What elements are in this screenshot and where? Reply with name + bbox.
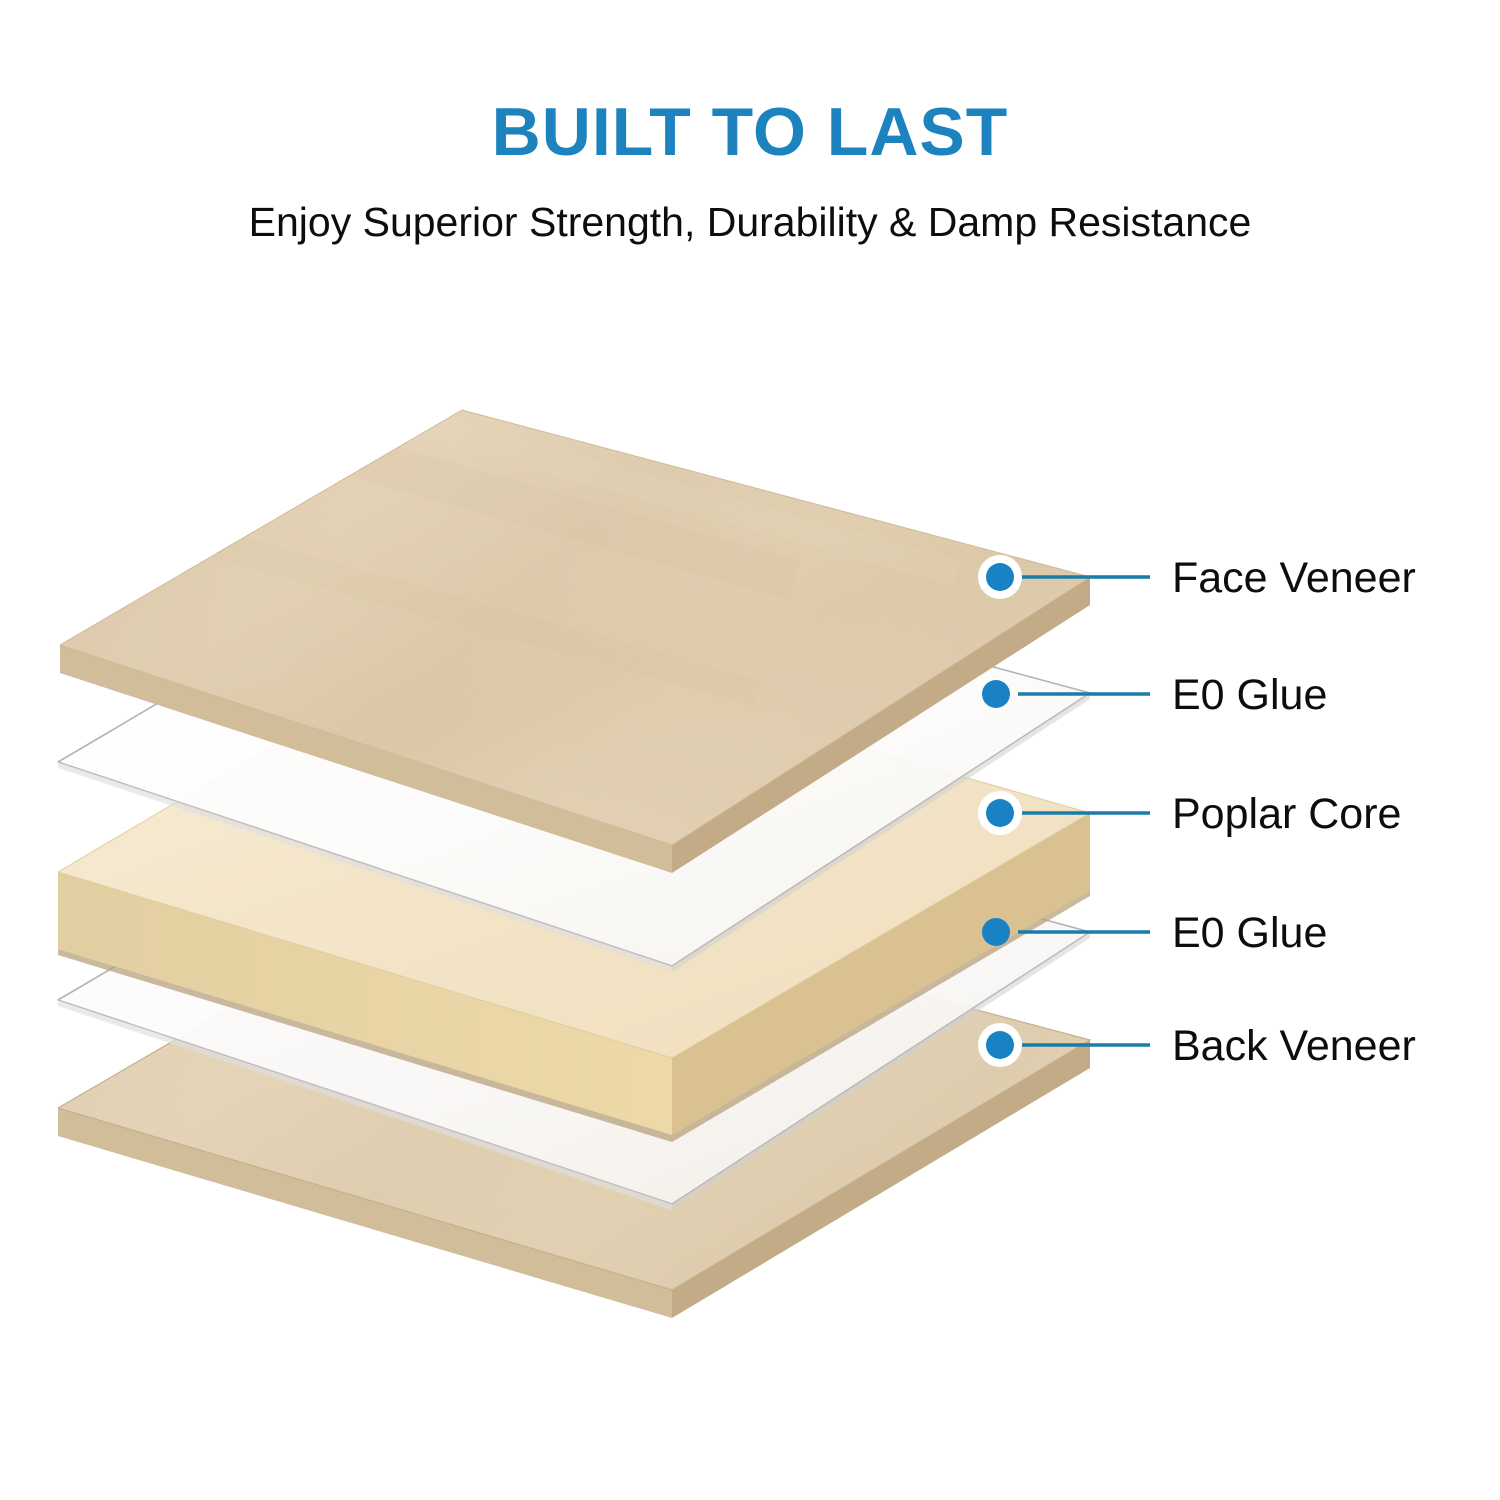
- label-glue-top: E0 Glue: [1172, 671, 1327, 719]
- label-glue-bottom: E0 Glue: [1172, 909, 1327, 957]
- marker-glue-bottom[interactable]: [982, 918, 1010, 946]
- label-back-veneer: Back Veneer: [1172, 1022, 1416, 1070]
- infographic-page: BUILT TO LAST Enjoy Superior Strength, D…: [0, 0, 1500, 1500]
- marker-glue-top[interactable]: [982, 680, 1010, 708]
- layer-diagram-container: Face Veneer E0 Glue Poplar Core E0 Glue …: [0, 0, 1500, 1500]
- marker-back-veneer[interactable]: [978, 1023, 1022, 1067]
- marker-poplar-core[interactable]: [978, 791, 1022, 835]
- layer-labels-group: Face Veneer E0 Glue Poplar Core E0 Glue …: [1172, 554, 1416, 1070]
- label-poplar-core: Poplar Core: [1172, 790, 1401, 838]
- marker-face-veneer[interactable]: [978, 555, 1022, 599]
- plywood-exploded-diagram: Face Veneer E0 Glue Poplar Core E0 Glue …: [0, 0, 1500, 1500]
- label-face-veneer: Face Veneer: [1172, 554, 1416, 602]
